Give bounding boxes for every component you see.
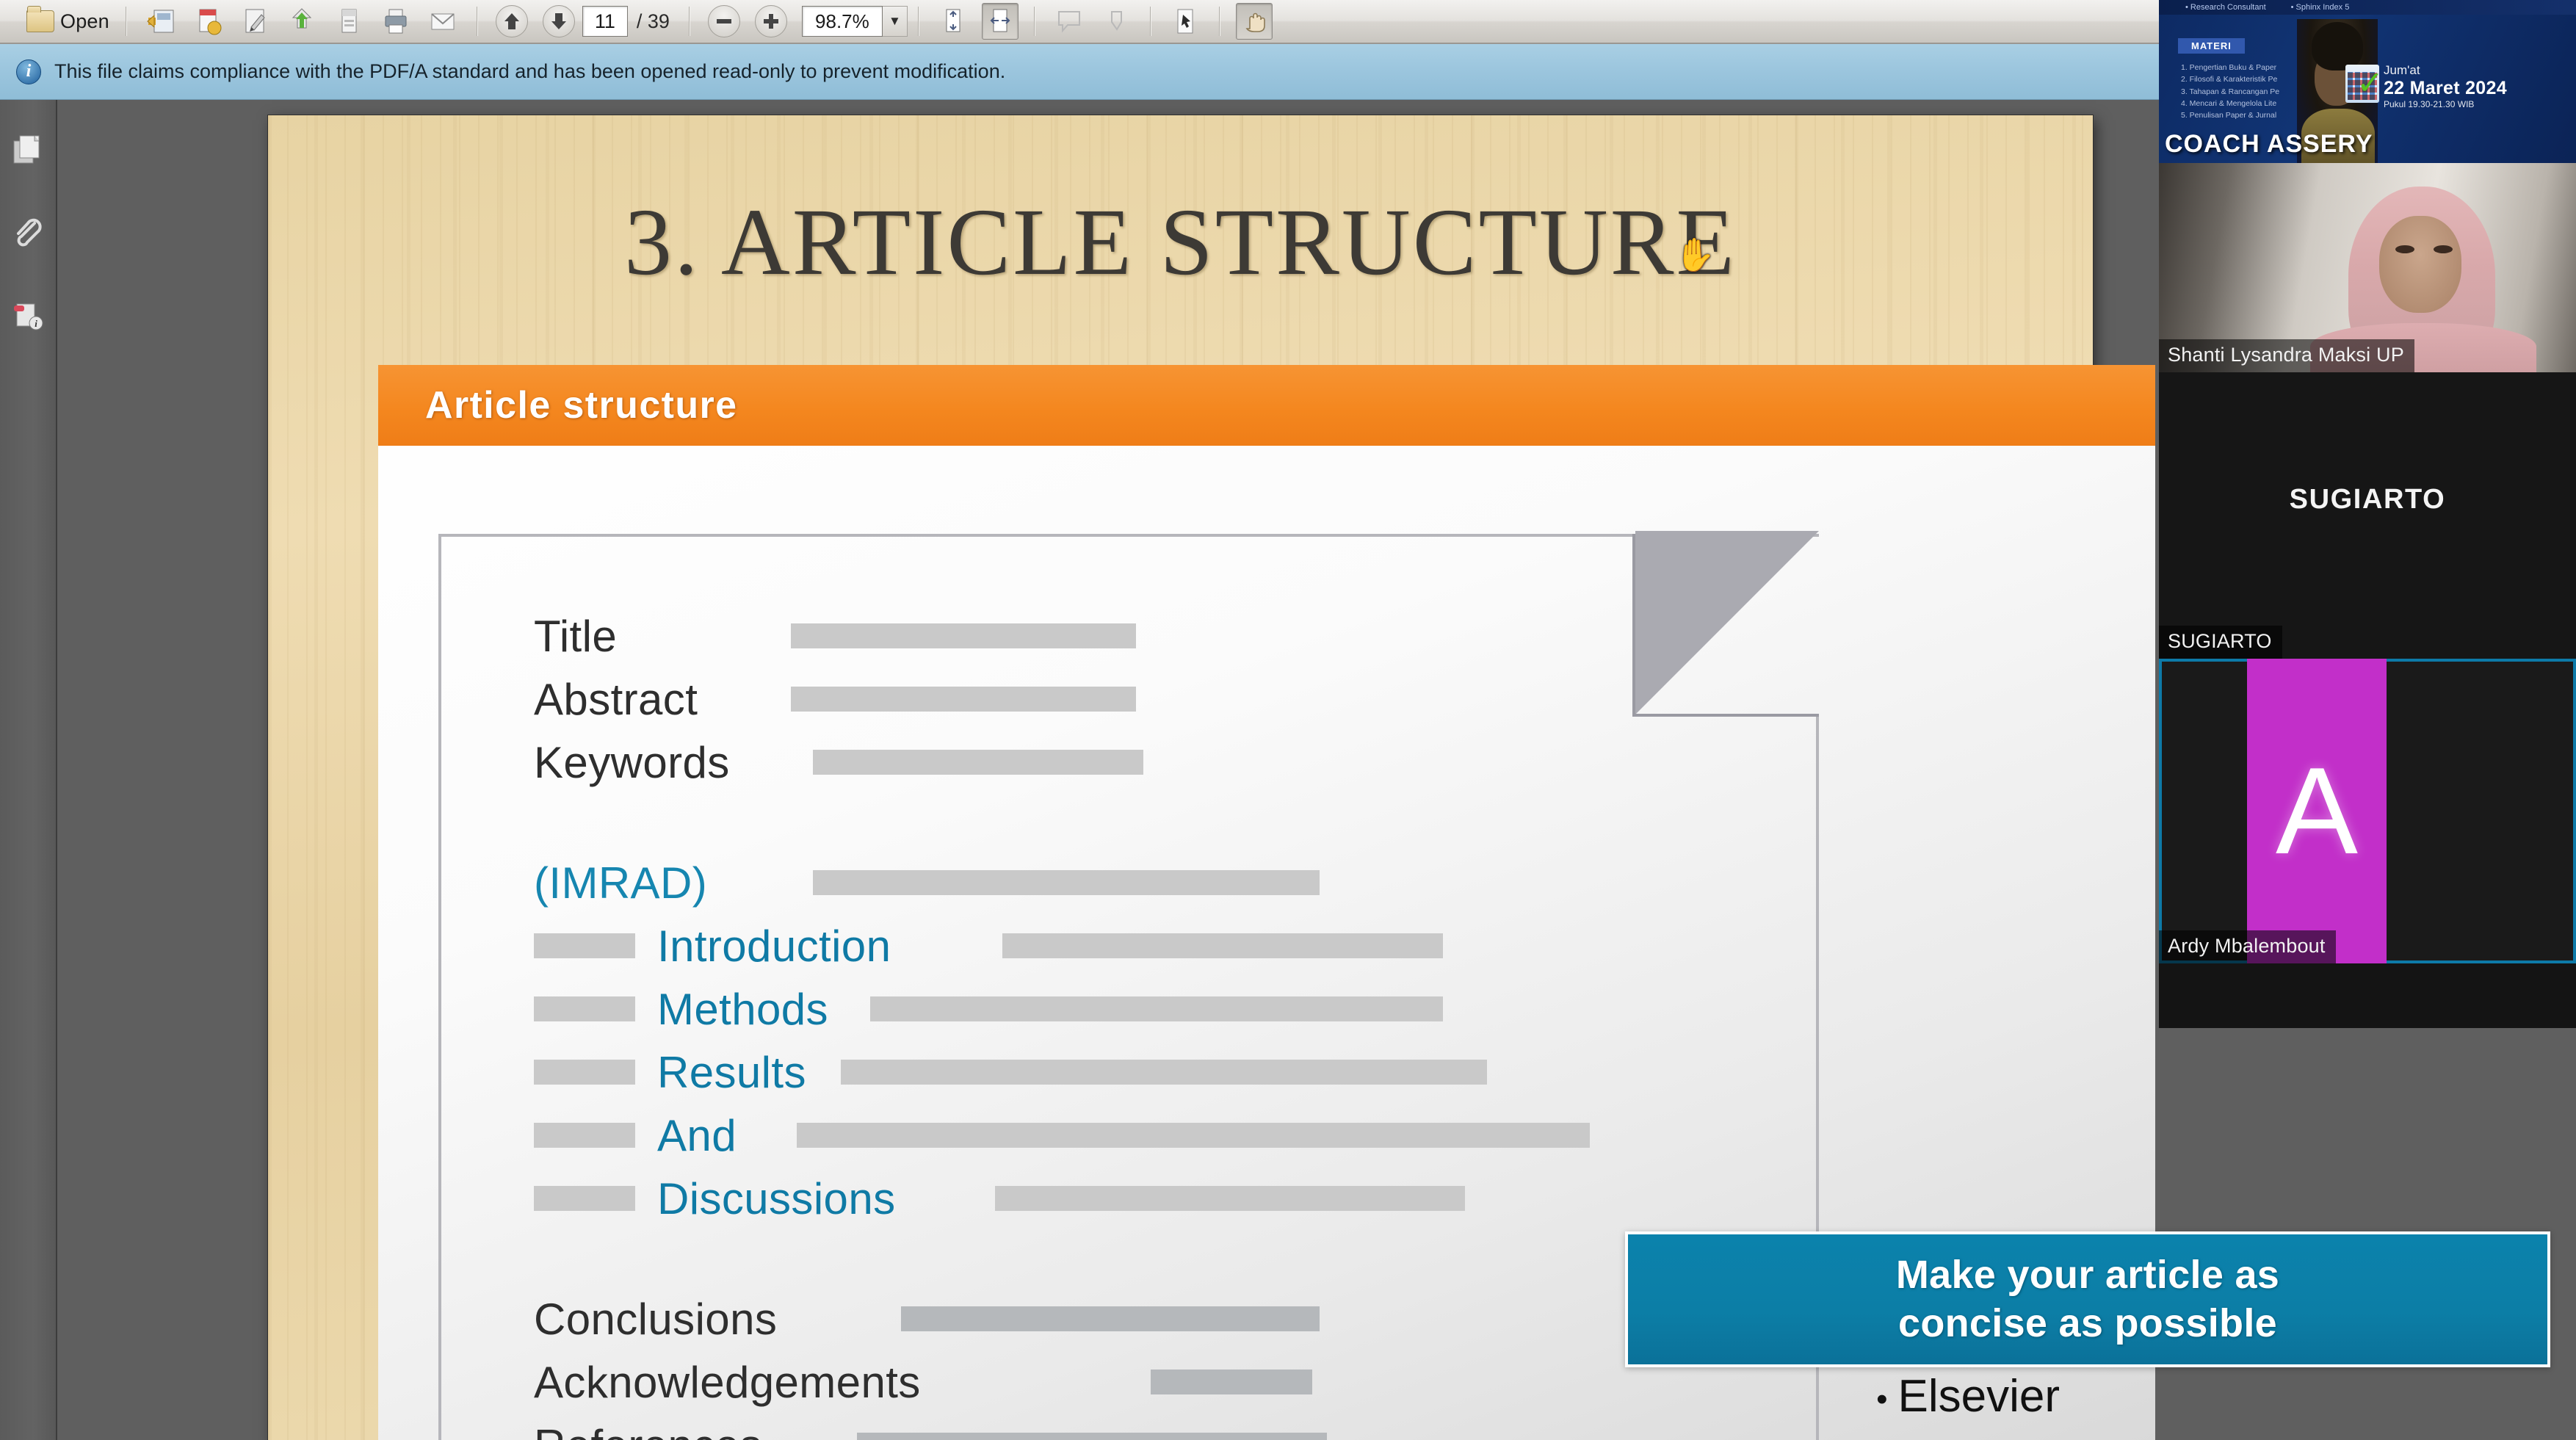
participant-name-label: Ardy Mbalembout [2159, 930, 2336, 963]
attachments-paperclip-icon[interactable] [8, 213, 48, 253]
page-total-label: / 39 [637, 10, 670, 33]
pages-thumbnail-icon[interactable] [8, 131, 48, 170]
row-introduction: Introduction [534, 914, 1819, 977]
concise-callout-box: Make your article asconcise as possible [1625, 1231, 2550, 1367]
row-label: Acknowledgements [534, 1357, 1151, 1408]
slide-title: 3. ARTICLE STRUCTURE [268, 187, 2093, 297]
materi-item: 4. Mencari & Mengelola Lite [2181, 98, 2306, 109]
video-tile-ardy[interactable]: A Ardy Mbalembout [2159, 659, 2576, 963]
toolbar-separator-2 [477, 7, 478, 36]
video-tile-coach-assery[interactable]: • Research Consultant • Sphinx Index 5 M… [2159, 0, 2576, 163]
row-and: And [534, 1104, 1819, 1167]
svg-text:i: i [35, 318, 37, 329]
row-imrad: (IMRAD) [534, 851, 1819, 914]
check-icon: ✓ [2356, 68, 2384, 100]
hand-tool-icon[interactable] [1236, 3, 1273, 40]
row-label: Keywords [534, 737, 813, 788]
row-label: And [657, 1110, 797, 1161]
previous-page-icon[interactable] [493, 3, 530, 40]
row-label: Conclusions [534, 1294, 901, 1345]
edit-pdf-icon[interactable] [236, 3, 273, 40]
print-preview-icon[interactable] [330, 3, 367, 40]
indent-bar [534, 1060, 635, 1085]
spacer [534, 794, 1819, 851]
row-results: Results [534, 1041, 1819, 1104]
toolbar-separator-3 [689, 7, 690, 36]
materi-item: 5. Penulisan Paper & Jurnal [2181, 109, 2306, 121]
participant-name-overlay: COACH ASSERY [2165, 130, 2373, 159]
video-participant-panel: • Research Consultant • Sphinx Index 5 M… [2159, 0, 2576, 1028]
save-icon[interactable] [142, 3, 179, 40]
article-structure-rows: Title Abstract Keywords [438, 534, 1819, 1440]
next-page-icon[interactable] [540, 3, 577, 40]
bullet-icon: • [1876, 1381, 1887, 1417]
row-bar [813, 750, 1143, 775]
row-bar [901, 1306, 1320, 1331]
webinar-topbar: • Research Consultant • Sphinx Index 5 [2159, 0, 2576, 15]
section-header-label: Article structure [425, 383, 737, 427]
zoom-in-icon[interactable] [753, 3, 789, 40]
materi-item: 1. Pengertian Buku & Paper [2181, 62, 2306, 73]
row-bar [995, 1186, 1465, 1211]
row-abstract: Abstract [534, 667, 1819, 731]
row-discussions: Discussions [534, 1167, 1819, 1230]
video-tile-shanti[interactable]: Shanti Lysandra Maksi UP [2159, 163, 2576, 372]
hand-cursor-icon: ✋ [1675, 236, 1715, 274]
video-tile-sugiarto[interactable]: SUGIARTO SUGIARTO [2159, 372, 2576, 659]
webinar-topbar-item: • Sphinx Index 5 [2291, 3, 2350, 12]
indent-bar [534, 933, 635, 958]
row-label: Abstract [534, 674, 791, 725]
participant-name-label: Shanti Lysandra Maksi UP [2159, 339, 2414, 372]
slide-content-card: Article structure Title [378, 365, 2155, 1440]
print-icon[interactable] [377, 3, 414, 40]
row-bar [1002, 933, 1443, 958]
webinar-day: Jum'at [2384, 63, 2567, 78]
indent-bar [534, 1123, 635, 1148]
row-bar [841, 1060, 1487, 1085]
participant-face [2379, 216, 2461, 313]
fit-page-icon[interactable] [935, 3, 972, 40]
row-label: (IMRAD) [534, 858, 813, 908]
row-label: References [534, 1420, 857, 1440]
zoom-out-icon[interactable] [706, 3, 742, 40]
row-label: Discussions [657, 1173, 995, 1224]
toolbar-separator-6 [1150, 7, 1151, 36]
row-label: Title [534, 611, 791, 662]
toolbar-separator [126, 7, 127, 36]
webinar-date: 22 Maret 2024 [2384, 78, 2567, 99]
indent-bar [534, 1186, 635, 1211]
row-methods: Methods [534, 977, 1819, 1041]
open-button-label: Open [60, 10, 109, 33]
row-label: Introduction [657, 921, 1002, 972]
document-properties-icon[interactable]: i [8, 295, 48, 335]
avatar-initial: A [2247, 659, 2387, 963]
materi-item: 3. Tahapan & Rancangan Pe [2181, 86, 2306, 98]
webinar-materi-list: 1. Pengertian Buku & Paper 2. Filosofi &… [2181, 62, 2306, 121]
participant-name-label: SUGIARTO [2159, 626, 2282, 659]
callout-text: Make your article asconcise as possible [1896, 1251, 2279, 1348]
row-bar [797, 1123, 1590, 1148]
participant-display-name: SUGIARTO [2159, 484, 2576, 515]
row-keywords: Keywords [534, 731, 1819, 794]
info-icon: i [16, 59, 41, 84]
row-bar [1151, 1370, 1312, 1394]
upload-icon[interactable] [283, 3, 320, 40]
avatar: A [2247, 659, 2387, 963]
row-bar [791, 623, 1136, 648]
row-title: Title [534, 604, 1819, 667]
zoom-level-input[interactable]: 98.7% [802, 6, 883, 37]
indent-bar [534, 996, 635, 1021]
chevron-down-icon[interactable]: ▼ [883, 6, 908, 37]
section-header-bar: Article structure [378, 365, 2155, 446]
pdf-viewer-with-video-conference: Open [0, 0, 2576, 1440]
pdf-page: 3. ARTICLE STRUCTURE Article structure T… [268, 115, 2093, 1440]
side-rail: i [0, 100, 57, 1440]
webinar-time: Pukul 19.30-21.30 WIB [2384, 99, 2567, 109]
materi-item: 2. Filosofi & Karakteristik Pe [2181, 73, 2306, 85]
select-tool-icon[interactable] [1167, 3, 1204, 40]
row-label: Methods [657, 984, 870, 1035]
page-number-input[interactable]: 11 [582, 6, 628, 37]
toolbar-separator-7 [1219, 7, 1220, 36]
article-sheet-diagram: Title Abstract Keywords [438, 534, 1819, 1440]
webinar-topbar-item: • Research Consultant [2185, 3, 2266, 12]
row-bar [870, 996, 1443, 1021]
elsevier-brand: •Elsevier [1876, 1370, 2060, 1422]
row-bar [857, 1433, 1327, 1440]
toolbar-separator-5 [1034, 7, 1035, 36]
webinar-date-block: Jum'at 22 Maret 2024 Pukul 19.30-21.30 W… [2384, 63, 2567, 109]
row-bar [813, 870, 1320, 895]
open-folder-icon[interactable]: Open [26, 3, 110, 40]
webinar-materi-badge: MATERI [2178, 38, 2245, 54]
export-pdf-icon[interactable] [189, 3, 226, 40]
email-icon[interactable] [424, 3, 461, 40]
highlight-icon[interactable] [1098, 3, 1135, 40]
pdfa-notice-text: This file claims compliance with the PDF… [54, 60, 1005, 83]
row-label: Results [657, 1047, 841, 1098]
fit-width-icon[interactable] [982, 3, 1019, 40]
comment-icon[interactable] [1051, 3, 1088, 40]
toolbar-separator-4 [918, 7, 919, 36]
row-bar [791, 687, 1136, 712]
elsevier-label: Elsevier [1897, 1371, 2060, 1422]
row-references: References [534, 1414, 1819, 1440]
